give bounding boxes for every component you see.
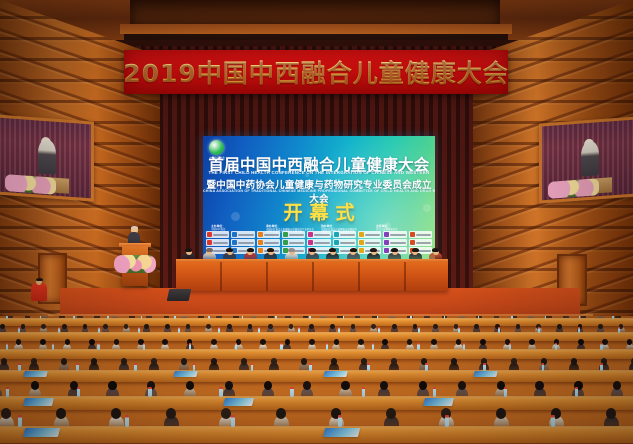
audience-member-head xyxy=(41,324,46,329)
audience-member-head xyxy=(108,381,116,390)
audience-member-head xyxy=(264,381,272,390)
water-bottle xyxy=(208,316,210,319)
audience-member-head xyxy=(289,324,294,329)
water-bottle xyxy=(618,327,620,333)
audience-member-head xyxy=(309,339,315,345)
audience-member-head xyxy=(165,324,170,329)
sponsor-logo xyxy=(333,231,356,238)
audience-member-head xyxy=(382,339,388,345)
conference-program-booklet xyxy=(223,398,254,406)
water-bottle xyxy=(372,343,374,350)
sponsor-logo xyxy=(257,239,280,246)
right-projection-screen xyxy=(539,116,633,203)
left-projection-screen xyxy=(0,114,94,201)
water-bottle xyxy=(73,316,75,319)
audience-member-head xyxy=(225,381,233,390)
water-bottle xyxy=(418,327,420,333)
audience-desk-row xyxy=(0,396,633,410)
audience-member-head xyxy=(535,381,543,390)
audience-member-head xyxy=(268,324,273,329)
water-bottle xyxy=(189,343,191,350)
water-bottle xyxy=(309,363,312,371)
screen-subtitle-en: CHINA ASSOCIATION OF TRADITIONAL CHINESE… xyxy=(203,189,435,193)
sponsor-logo xyxy=(257,231,280,238)
water-bottle xyxy=(445,415,449,427)
water-bottle xyxy=(235,343,237,350)
sponsor-logo xyxy=(282,231,305,238)
ceiling-lip xyxy=(120,24,512,34)
water-bottle xyxy=(6,316,8,319)
audience-member-head xyxy=(89,339,95,345)
audience-member-head xyxy=(285,339,291,345)
water-bottle xyxy=(76,363,79,371)
audience-member-head xyxy=(227,324,232,329)
audience-member-head xyxy=(578,339,584,345)
water-bottle xyxy=(193,363,196,371)
ceiling-panel xyxy=(130,0,500,26)
water-bottle xyxy=(6,387,9,397)
water-bottle xyxy=(498,327,500,333)
audience-member-head xyxy=(65,339,71,345)
water-bottle xyxy=(107,316,109,319)
water-bottle xyxy=(18,415,22,427)
water-bottle xyxy=(417,343,419,350)
audience-member-head xyxy=(0,324,5,329)
banner-title-text: 2019中国中西融合儿童健康大会 xyxy=(124,54,508,90)
water-bottle xyxy=(309,316,311,319)
water-bottle xyxy=(410,316,412,319)
water-bottle xyxy=(174,316,176,319)
sponsor-logo xyxy=(282,239,305,246)
conference-photo: 2019中国中西融合儿童健康大会 中国中药协会 首届中国中西融合儿童健康大会 T… xyxy=(0,0,633,444)
audience-seating-area xyxy=(0,316,633,444)
water-bottle xyxy=(97,343,99,350)
water-bottle xyxy=(290,387,293,397)
sponsor-logo xyxy=(333,239,356,246)
sponsor-logo xyxy=(383,231,406,238)
audience-desk-row xyxy=(0,370,633,382)
sponsor-logo xyxy=(358,239,381,246)
audience-member-head xyxy=(144,324,149,329)
water-bottle xyxy=(338,327,340,333)
audience-member-head xyxy=(358,339,364,345)
water-bottle xyxy=(125,415,129,427)
water-bottle xyxy=(538,327,540,333)
water-bottle xyxy=(178,327,180,333)
screen-main-text: 开幕式 xyxy=(203,198,435,225)
conference-program-booklet xyxy=(23,428,60,437)
water-bottle xyxy=(52,343,54,350)
head-table xyxy=(176,262,448,291)
audience-member-head xyxy=(480,339,486,345)
water-bottle xyxy=(509,343,511,350)
water-bottle xyxy=(251,363,254,371)
audience-member-head xyxy=(186,324,191,329)
audience-member-head xyxy=(103,324,108,329)
screen-title-en: THE FIRST CHILD HEALTH CONFERENCE ON THE… xyxy=(203,170,435,175)
podium-flower-arrangement xyxy=(114,255,156,273)
audience-member-head xyxy=(83,324,88,329)
audience-member-head xyxy=(303,381,311,390)
audience-member-head xyxy=(371,324,376,329)
water-bottle xyxy=(362,387,365,397)
water-bottle xyxy=(77,387,80,397)
water-bottle xyxy=(219,387,222,397)
audience-member-head xyxy=(431,339,437,345)
stage-monitor-speaker xyxy=(167,289,192,301)
audience-member-head xyxy=(341,381,349,390)
staff-usher-body xyxy=(31,283,47,301)
water-bottle xyxy=(231,415,235,427)
conference-program-booklet xyxy=(23,398,54,406)
audience-member-head xyxy=(309,324,314,329)
sponsor-row xyxy=(206,239,432,246)
sponsor-logo xyxy=(409,231,432,238)
water-bottle xyxy=(258,327,260,333)
conference-program-booklet xyxy=(323,371,348,377)
water-bottle xyxy=(578,327,580,333)
conference-program-booklet xyxy=(473,371,498,377)
water-bottle xyxy=(600,343,602,350)
water-bottle xyxy=(6,343,8,350)
audience-member-head xyxy=(248,324,253,329)
water-bottle xyxy=(504,387,507,397)
water-bottle xyxy=(377,316,379,319)
water-bottle xyxy=(425,363,428,371)
water-bottle xyxy=(338,415,342,427)
audience-member-head xyxy=(413,324,418,329)
audience-member-head xyxy=(31,381,39,390)
audience-member-head xyxy=(62,324,67,329)
water-bottle xyxy=(433,387,436,397)
water-bottle xyxy=(483,363,486,371)
sponsor-logo xyxy=(383,239,406,246)
sponsor-logo xyxy=(206,239,229,246)
water-bottle xyxy=(458,327,460,333)
audience-member-head xyxy=(211,339,217,345)
water-bottle xyxy=(138,327,140,333)
staff-usher xyxy=(31,275,47,301)
water-bottle xyxy=(298,327,300,333)
screen-speaker-figure xyxy=(38,140,56,175)
water-bottle xyxy=(98,327,100,333)
audience-member-head xyxy=(516,324,521,329)
water-bottle xyxy=(218,327,220,333)
audience-member-head xyxy=(392,324,397,329)
audience-member-head xyxy=(260,339,266,345)
water-bottle xyxy=(58,327,60,333)
audience-member-head xyxy=(124,324,129,329)
water-bottle xyxy=(18,327,20,333)
audience-member-head xyxy=(40,339,46,345)
sponsor-logo xyxy=(409,239,432,246)
sponsor-logo xyxy=(307,231,330,238)
audience-member-head xyxy=(602,339,608,345)
water-bottle xyxy=(40,316,42,319)
audience-member-head xyxy=(557,324,562,329)
audience-member-head xyxy=(433,324,438,329)
water-bottle xyxy=(555,343,557,350)
water-bottle xyxy=(378,327,380,333)
water-bottle xyxy=(280,343,282,350)
water-bottle xyxy=(612,316,614,319)
sponsor-logo xyxy=(231,231,254,238)
audience-member-head xyxy=(162,339,168,345)
water-bottle xyxy=(134,363,137,371)
water-bottle xyxy=(367,363,370,371)
water-bottle xyxy=(579,316,581,319)
audience-member-head xyxy=(334,339,340,345)
sponsor-logo xyxy=(358,231,381,238)
audience-member-head xyxy=(330,324,335,329)
conference-program-booklet xyxy=(23,371,48,377)
sponsor-logo xyxy=(231,239,254,246)
audience-member-head xyxy=(458,381,466,390)
water-bottle xyxy=(542,363,545,371)
staff-usher-hair xyxy=(36,278,43,282)
water-bottle xyxy=(326,343,328,350)
water-bottle xyxy=(478,316,480,319)
water-bottle xyxy=(511,316,513,319)
audience-member-head xyxy=(529,339,535,345)
led-stage-screen: 中国中药协会 首届中国中西融合儿童健康大会 THE FIRST CHILD HE… xyxy=(203,136,435,259)
screen-speaker-figure xyxy=(581,141,599,176)
audience-member-head xyxy=(114,339,120,345)
water-bottle xyxy=(600,363,603,371)
audience-member-head xyxy=(206,324,211,329)
water-bottle xyxy=(551,415,555,427)
sponsor-logo xyxy=(206,231,229,238)
water-bottle xyxy=(18,363,21,371)
sponsor-logo xyxy=(307,239,330,246)
sponsor-row xyxy=(206,231,432,238)
audience-member-head xyxy=(598,324,603,329)
audience-member-head xyxy=(21,324,26,329)
water-bottle xyxy=(148,387,151,397)
main-title-banner: 2019中国中西融合儿童健康大会 xyxy=(124,50,508,94)
water-bottle xyxy=(275,316,277,319)
audience-desk-row xyxy=(0,332,633,341)
audience-member-head xyxy=(351,324,356,329)
conference-program-booklet xyxy=(323,428,360,437)
conference-program-booklet xyxy=(423,398,454,406)
water-bottle xyxy=(575,387,578,397)
audience-desk-row xyxy=(0,426,633,443)
audience-member-head xyxy=(474,324,479,329)
conference-program-booklet xyxy=(173,371,198,377)
